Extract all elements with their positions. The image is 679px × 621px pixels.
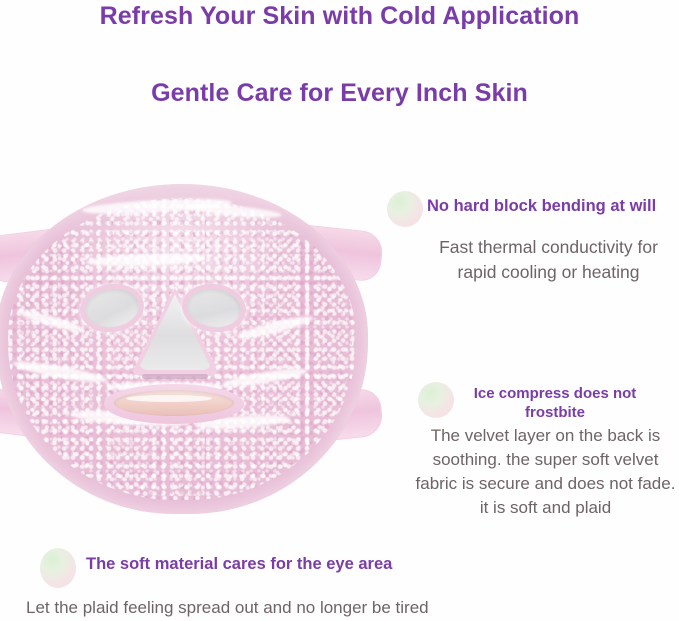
gradient-dot-icon [40, 548, 76, 588]
mask-nose-bar [142, 374, 208, 379]
feature-body-3: Let the plaid feeling spread out and no … [26, 596, 646, 619]
gradient-dot-icon [387, 191, 423, 227]
mask-mouth-highlight [126, 395, 212, 402]
mask-illustration [0, 176, 390, 532]
feature-body-2: The velvet layer on the back is soothing… [412, 424, 679, 520]
feature-headline-2: Ice compress does not frostbite [448, 384, 662, 422]
page-title-secondary: Gentle Care for Every Inch Skin [0, 79, 679, 108]
feature-body-1: Fast thermal conductivity for rapid cool… [418, 235, 679, 285]
product-image-gel-face-mask [0, 176, 390, 532]
feature-headline-3: The soft material cares for the eye area [86, 554, 506, 575]
mask-mouth-cutout [114, 390, 234, 416]
page-title-primary: Refresh Your Skin with Cold Application [0, 2, 679, 31]
infographic-canvas: Refresh Your Skin with Cold Application … [0, 0, 679, 621]
feature-headline-1: No hard block bending at will [427, 196, 677, 217]
